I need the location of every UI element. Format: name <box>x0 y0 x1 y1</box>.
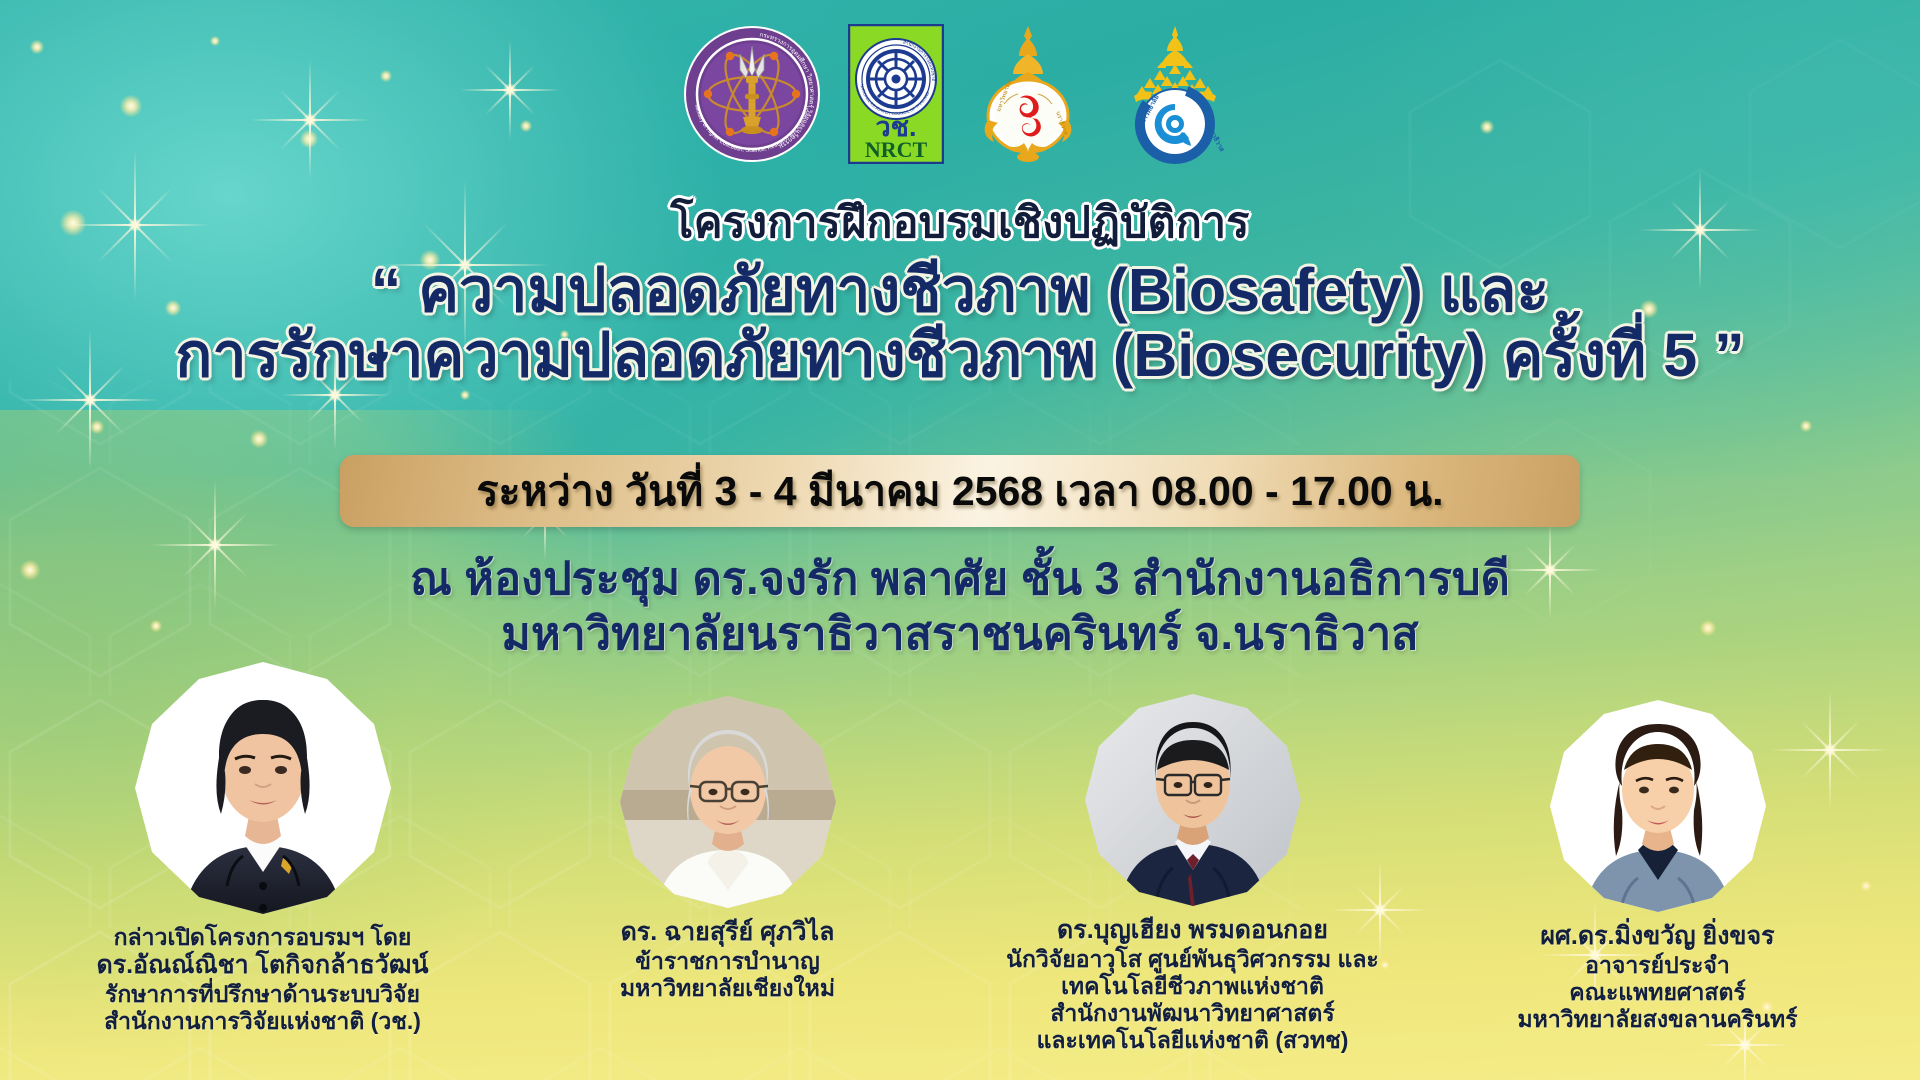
speaker-caption-3: ดร.บุญเฮียง พรมดอนกอย นักวิจัยอาวุโส ศูน… <box>1006 916 1379 1054</box>
speaker-3-line-4: และเทคโนโลยีแห่งชาติ (สวทช) <box>1006 1027 1379 1054</box>
speakers-row: กล่าวเปิดโครงการอบรมฯ โดย ดร.อัณณ์ณิชา โ… <box>0 668 1920 1080</box>
venue-line-1: ณ ห้องประชุม ดร.จงรัก พลาศัย ชั้น 3 สำนั… <box>410 553 1510 604</box>
speaker-2-line-1: ข้าราชการบำนาญ <box>620 948 835 975</box>
speaker-card-3: ดร.บุญเฮียง พรมดอนกอย นักวิจัยอาวุโส ศูน… <box>973 692 1413 1054</box>
page-title: “ ความปลอดภัยทางชีวภาพ (Biosafety) และ ก… <box>0 258 1920 389</box>
speaker-caption-2: ดร. ฉายสุรีย์ ศุภวิไล ข้าราชการบำนาญ มหา… <box>620 918 835 1002</box>
speaker-4-line-2: คณะแพทยศาสตร์ <box>1518 979 1798 1006</box>
date-time-text: ระหว่าง วันที่ 3 - 4 มีนาคม 2568 เวลา 08… <box>477 459 1444 524</box>
speaker-3-line-0: ดร.บุญเฮียง พรมดอนกอย <box>1006 916 1379 946</box>
speaker-caption-1: กล่าวเปิดโครงการอบรมฯ โดย ดร.อัณณ์ณิชา โ… <box>96 924 428 1035</box>
speaker-3-line-2: เทคโนโลยีชีวภาพแห่งชาติ <box>1006 973 1379 1000</box>
title-line-2: การรักษาความปลอดภัยทางชีวภาพ (Biosecurit… <box>0 323 1920 388</box>
program-subtitle: โครงการฝึกอบรมเชิงปฏิบัติการ <box>0 188 1920 256</box>
speaker-photo-2 <box>620 694 836 910</box>
date-time-banner: ระหว่าง วันที่ 3 - 4 มีนาคม 2568 เวลา 08… <box>340 455 1580 527</box>
speaker-4-line-1: อาจารย์ประจำ <box>1518 952 1798 979</box>
speaker-1-line-1: ดร.อัณณ์ณิชา โตกิจกล้าธวัฒน์ <box>96 951 428 981</box>
speaker-1-line-0: กล่าวเปิดโครงการอบรมฯ โดย <box>96 924 428 951</box>
venue-block: ณ ห้องประชุม ดร.จงรัก พลาศัย ชั้น 3 สำนั… <box>0 552 1920 662</box>
speaker-caption-4: ผศ.ดร.มิ่งขวัญ ยิ่งขจร อาจารย์ประจำ คณะแ… <box>1518 922 1798 1033</box>
princess-of-naradhiwas-university-logo: มหาวิทยาลัย นราธิวาส <box>1112 24 1238 164</box>
speaker-2-line-2: มหาวิทยาลัยเชียงใหม่ <box>620 975 835 1002</box>
speaker-2-line-0: ดร. ฉายสุรีย์ ศุภวิไล <box>620 918 835 948</box>
speaker-photo-4 <box>1550 698 1766 914</box>
poster-canvas: กระทรวงการอุดมศึกษา วิทยาศาสตร์ วิจัยและ… <box>0 0 1920 1080</box>
speaker-card-4: ผศ.ดร.มิ่งขวัญ ยิ่งขจร อาจารย์ประจำ คณะแ… <box>1438 698 1878 1033</box>
logo-row: กระทรวงการอุดมศึกษา วิทยาศาสตร์ วิจัยและ… <box>0 24 1920 164</box>
svg-text:NRCT: NRCT <box>865 137 928 162</box>
nrct-logo: สำนักงานการวิจัยแห่งชาติ NATIONAL RESEAR… <box>848 24 944 164</box>
venue-line-2: มหาวิทยาลัยนราธิวาสราชนครินทร์ จ.นราธิวา… <box>0 607 1920 662</box>
speaker-photo-3 <box>1085 692 1301 908</box>
speaker-3-line-3: สำนักงานพัฒนาวิทยาศาสตร์ <box>1006 1000 1379 1027</box>
speaker-3-line-1: นักวิจัยอาวุโส ศูนย์พันธุวิศวกรรม และ <box>1006 946 1379 973</box>
speaker-card-2: ดร. ฉายสุรีย์ ศุภวิไล ข้าราชการบำนาญ มหา… <box>508 694 948 1002</box>
speaker-4-line-3: มหาวิทยาลัยสงขลานครินทร์ <box>1518 1006 1798 1033</box>
ministry-of-higher-education-science-research-innovation-logo: กระทรวงการอุดมศึกษา วิทยาศาสตร์ วิจัยและ… <box>682 24 822 164</box>
speaker-photo-1 <box>135 660 391 916</box>
title-line-1: “ ความปลอดภัยทางชีวภาพ (Biosafety) และ <box>371 256 1549 324</box>
speaker-1-line-3: สำนักงานการวิจัยแห่งชาติ (วช.) <box>96 1008 428 1035</box>
speaker-card-1: กล่าวเปิดโครงการอบรมฯ โดย ดร.อัณณ์ณิชา โ… <box>43 660 483 1035</box>
speaker-4-line-0: ผศ.ดร.มิ่งขวัญ ยิ่งขจร <box>1518 922 1798 952</box>
speaker-1-line-2: รักษาการที่ปรึกษาด้านระบบวิจัย <box>96 981 428 1008</box>
royal-emblem-logo: มหาวิทยาลัย นราธิวาส <box>970 24 1086 164</box>
